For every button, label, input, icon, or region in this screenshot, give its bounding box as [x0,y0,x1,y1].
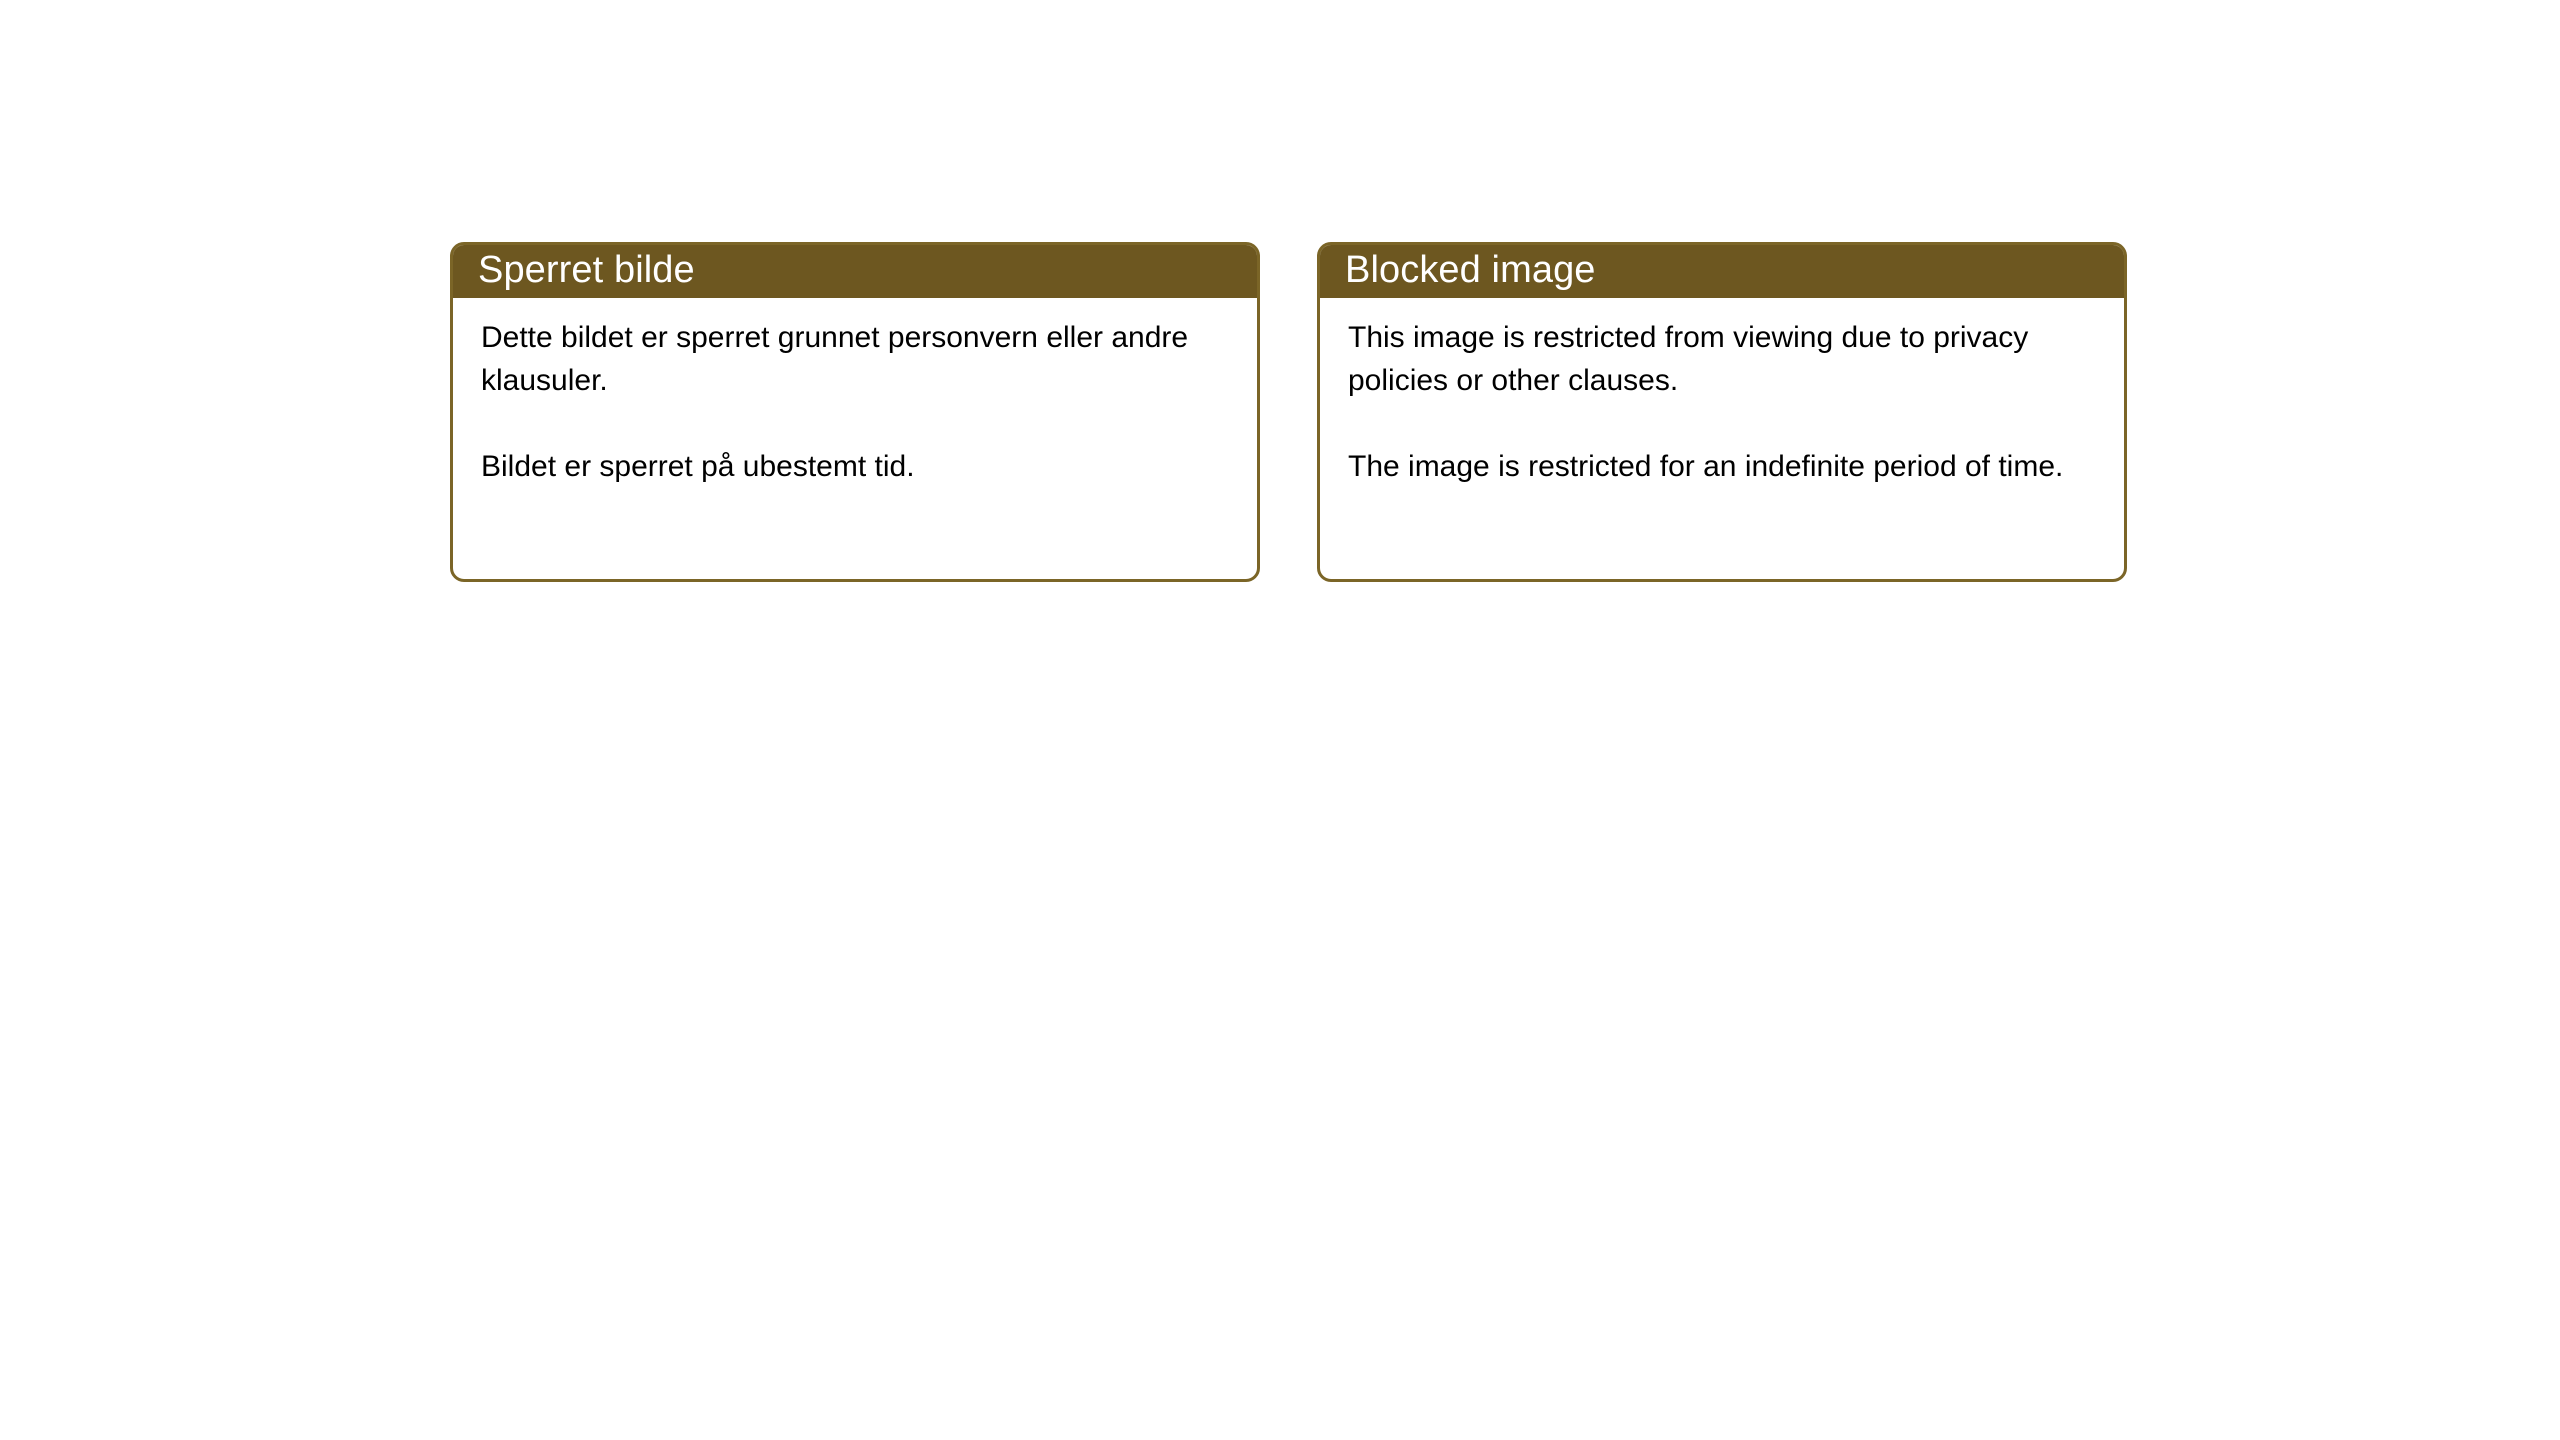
card-paragraph-secondary-norwegian: Bildet er sperret på ubestemt tid. [481,445,1201,488]
card-body-norwegian: Dette bildet er sperret grunnet personve… [453,298,1257,488]
blocked-image-notice-norwegian: Sperret bilde Dette bildet er sperret gr… [450,242,1260,582]
card-paragraph-primary-norwegian: Dette bildet er sperret grunnet personve… [481,316,1201,402]
card-title-norwegian: Sperret bilde [478,250,695,290]
card-paragraph-secondary-english: The image is restricted for an indefinit… [1348,445,2068,488]
page-canvas: Sperret bilde Dette bildet er sperret gr… [0,0,2560,1440]
blocked-image-notice-english: Blocked image This image is restricted f… [1317,242,2127,582]
card-header-norwegian: Sperret bilde [450,242,1260,298]
card-paragraph-primary-english: This image is restricted from viewing du… [1348,316,2068,402]
card-header-english: Blocked image [1317,242,2127,298]
card-body-english: This image is restricted from viewing du… [1320,298,2124,488]
card-title-english: Blocked image [1345,250,1596,290]
